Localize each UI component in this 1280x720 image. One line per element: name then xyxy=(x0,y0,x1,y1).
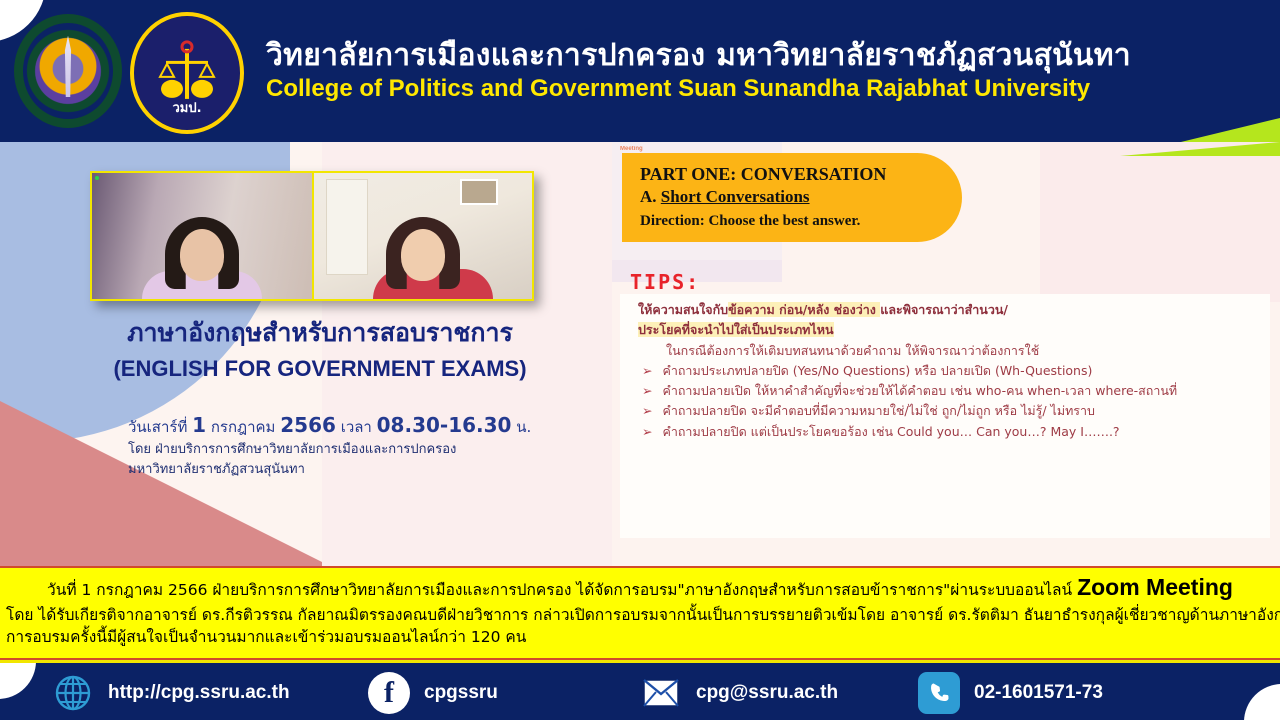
bullet-arrow-icon: ➢ xyxy=(642,424,652,439)
footer-phone-label: 02-1601571-73 xyxy=(974,682,1103,704)
organizer-line-2: มหาวิทยาลัยราชภัฏสวนสุนันทา xyxy=(128,460,568,480)
part-subtitle-prefix: A. xyxy=(640,187,661,206)
footer-phone-item[interactable]: 02-1601571-73 xyxy=(918,671,1103,715)
tip-text-segment: และพิจารณาว่าสำนวน/ xyxy=(880,302,1008,317)
video-tile-speaker-2[interactable] xyxy=(312,173,532,299)
presentation-slide-page: วมป. วิทยาลัยการเมืองและการปกครอง มหาวิท… xyxy=(0,0,1280,720)
speaker-2-face xyxy=(401,229,445,281)
tip-line: ประโยคที่จะนำไปใส่เป็นประเภทไหน xyxy=(638,320,1268,340)
course-title-thai: ภาษาอังกฤษสำหรับการสอบราชการ xyxy=(60,317,580,350)
tip-text-segment: ให้ความสนใจกับ xyxy=(638,302,728,317)
tip-text-segment: คำถามปลายปิด แต่เป็นประโยคขอร้อง เช่น Co… xyxy=(662,424,1119,439)
content-area: ภาษาอังกฤษสำหรับการสอบราชการ (ENGLISH FO… xyxy=(0,142,1280,566)
left-promo-panel: ภาษาอังกฤษสำหรับการสอบราชการ (ENGLISH FO… xyxy=(0,142,612,566)
bullet-arrow-icon: ➢ xyxy=(642,403,652,418)
recording-indicator-icon xyxy=(95,176,99,180)
tip-text-segment: คำถามประเภทปลายปิด (Yes/No Questions) หร… xyxy=(662,363,1092,378)
shared-screen-slide[interactable]: Meeting PART ONE: CONVERSATION A. Short … xyxy=(612,142,1280,566)
date-prefix: วันเสาร์ที่ xyxy=(128,418,187,436)
tip-line: ให้ความสนใจกับข้อความ ก่อน/หลัง ช่องว่าง… xyxy=(638,300,1268,320)
footer-website-label: http://cpg.ssru.ac.th xyxy=(108,682,290,704)
organizer-line-1: โดย ฝ่ายบริการการศึกษาวิทยาลัยการเมืองแล… xyxy=(128,440,568,460)
facebook-icon: f xyxy=(368,672,410,714)
part-one-callout: PART ONE: CONVERSATION A. Short Conversa… xyxy=(622,153,962,242)
slide-tint-right xyxy=(1040,142,1280,302)
part-direction: Direction: Choose the best answer. xyxy=(640,213,946,230)
news-caption-bar: วันที่ 1 กรกฎาคม 2566 ฝ่ายบริการการศึกษา… xyxy=(0,566,1280,660)
speaker-1-face xyxy=(180,229,224,281)
tip-line: ในกรณีต้องการให้เติมบทสนทนาด้วยคำถาม ให้… xyxy=(638,341,1268,361)
footer-email-label: cpg@ssru.ac.th xyxy=(696,682,838,704)
header-title-thai: วิทยาลัยการเมืองและการปกครอง มหาวิทยาลัย… xyxy=(266,38,1131,73)
bullet-arrow-icon: ➢ xyxy=(642,383,652,398)
footer-facebook-label: cpgssru xyxy=(424,682,498,704)
time-unit: น. xyxy=(516,418,531,436)
tip-line: ➢คำถามปลายเปิด ให้หาคำสำคัญที่จะช่วยให้ไ… xyxy=(638,381,1268,401)
caption-line-2: โดย ได้รับเกียรติจากอาจารย์ ดร.กีรติวรรณ… xyxy=(6,604,1274,626)
ssru-university-seal-icon xyxy=(12,12,124,130)
header-title-english: College of Politics and Government Suan … xyxy=(266,75,1131,103)
caption-line-1: วันที่ 1 กรกฎาคม 2566 ฝ่ายบริการการศึกษา… xyxy=(6,571,1274,604)
course-title-english: (ENGLISH FOR GOVERNMENT EXAMS) xyxy=(60,354,580,384)
footer-email-item[interactable]: cpg@ssru.ac.th xyxy=(640,671,838,715)
time-range: 08.30-16.30 xyxy=(377,413,512,437)
header-banner: วมป. วิทยาลัยการเมืองและการปกครอง มหาวิท… xyxy=(0,0,1280,142)
course-heading: ภาษาอังกฤษสำหรับการสอบราชการ (ENGLISH FO… xyxy=(60,317,580,383)
footer-website-item[interactable]: http://cpg.ssru.ac.th xyxy=(52,671,290,715)
seal-abbreviation: วมป. xyxy=(134,97,240,118)
background-door xyxy=(326,179,368,275)
date-day: 1 xyxy=(192,413,206,437)
footer-facebook-item[interactable]: f cpgssru xyxy=(368,671,498,715)
caption-line-1-text: วันที่ 1 กรกฎาคม 2566 ฝ่ายบริการการศึกษา… xyxy=(47,581,1077,599)
green-wedge-decoration xyxy=(1090,118,1280,142)
facebook-glyph: f xyxy=(384,676,394,710)
tip-line: ➢คำถามปลายปิด จะมีคำตอบที่มีความหมายใช่/… xyxy=(638,401,1268,421)
slide-corner-label: Meeting xyxy=(620,146,643,152)
tip-text-segment: คำถามปลายปิด จะมีคำตอบที่มีความหมายใช่/ไ… xyxy=(662,403,1095,418)
tip-line: ➢คำถามประเภทปลายปิด (Yes/No Questions) ห… xyxy=(638,361,1268,381)
college-of-politics-seal-icon: วมป. xyxy=(130,12,244,134)
bullet-arrow-icon: ➢ xyxy=(642,363,652,378)
tip-text-segment: ข้อความ ก่อน/หลัง ช่องว่าง xyxy=(728,302,880,317)
part-subtitle: A. Short Conversations xyxy=(640,186,946,208)
globe-icon xyxy=(52,672,94,714)
footer-contact-bar: http://cpg.ssru.ac.th f cpgssru cpg@ssru… xyxy=(0,660,1280,720)
header-titles: วิทยาลัยการเมืองและการปกครอง มหาวิทยาลัย… xyxy=(266,38,1131,104)
phone-icon xyxy=(918,672,960,714)
caption-line-3: การอบรมครั้งนี้มีผู้สนใจเป็นจำนวนมากและเ… xyxy=(6,626,1274,648)
part-title: PART ONE: CONVERSATION xyxy=(640,163,946,186)
tips-heading: TIPS: xyxy=(630,270,700,294)
background-picture-frame xyxy=(460,179,498,205)
tip-text-segment: คำถามปลายเปิด ให้หาคำสำคัญที่จะช่วยให้ได… xyxy=(662,383,1177,398)
tip-text-segment: ในกรณีต้องการให้เติมบทสนทนาด้วยคำถาม ให้… xyxy=(666,343,1039,358)
zoom-video-grid[interactable] xyxy=(90,171,534,301)
time-label: เวลา xyxy=(341,418,372,436)
date-month: กรกฎาคม xyxy=(211,418,276,436)
tips-list: ให้ความสนใจกับข้อความ ก่อน/หลัง ช่องว่าง… xyxy=(638,300,1268,442)
event-details: วันเสาร์ที่ 1 กรกฎาคม 2566 เวลา 08.30-16… xyxy=(128,410,568,480)
caption-zoom-meeting: Zoom Meeting xyxy=(1077,574,1233,600)
event-datetime: วันเสาร์ที่ 1 กรกฎาคม 2566 เวลา 08.30-16… xyxy=(128,410,568,440)
part-subtitle-underlined: Short Conversations xyxy=(661,187,810,206)
tip-line: ➢คำถามปลายปิด แต่เป็นประโยคขอร้อง เช่น C… xyxy=(638,422,1268,442)
date-year: 2566 xyxy=(280,413,336,437)
video-tile-speaker-1[interactable] xyxy=(92,173,312,299)
tip-text-segment: ประโยคที่จะนำไปใส่เป็นประเภทไหน xyxy=(638,322,834,337)
email-icon xyxy=(640,672,682,714)
